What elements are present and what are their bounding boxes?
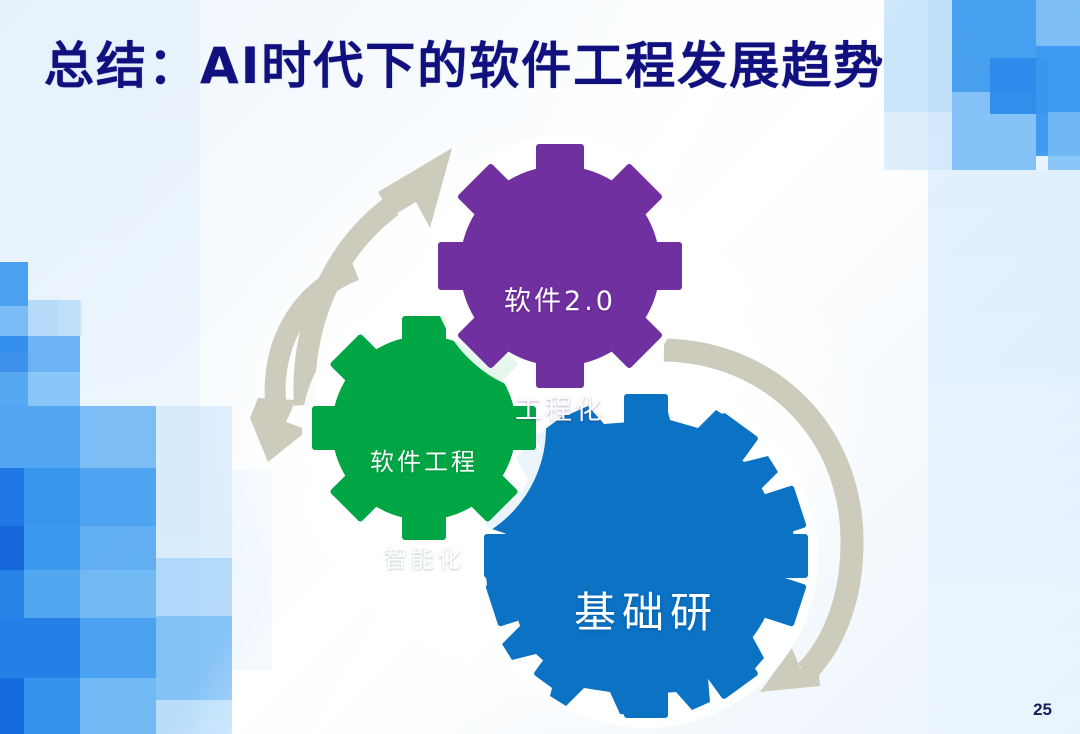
slide-canvas: 总结：AI时代下的软件工程发展趋势	[0, 0, 1080, 734]
page-number: 25	[1033, 700, 1052, 720]
gear-cycle-diagram	[0, 0, 1080, 734]
